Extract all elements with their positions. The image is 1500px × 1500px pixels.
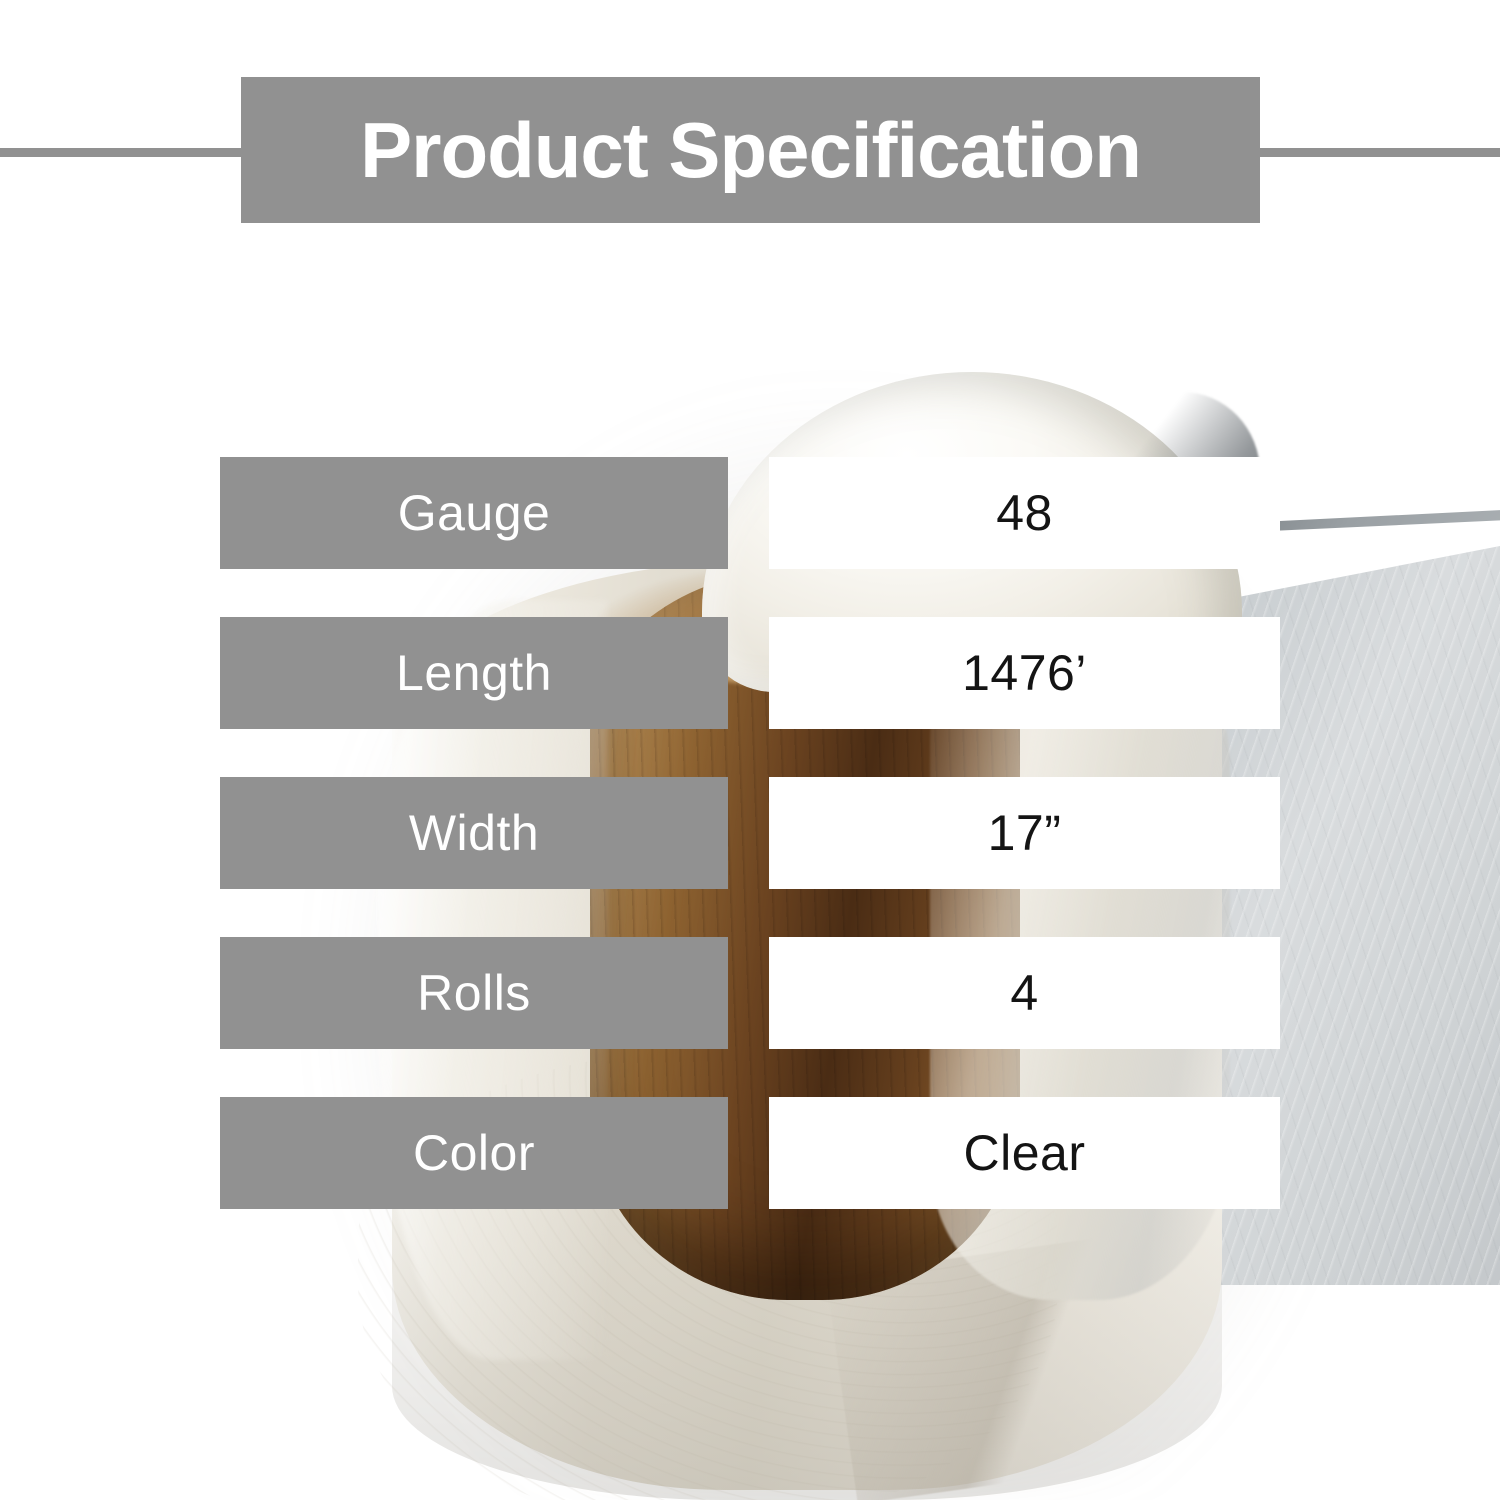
spec-value-rolls: 4 xyxy=(769,937,1280,1049)
spec-value-gauge: 48 xyxy=(769,457,1280,569)
spec-value-text: 48 xyxy=(996,488,1053,538)
page-title: Product Specification xyxy=(360,111,1141,189)
spec-value-text: Clear xyxy=(964,1128,1086,1178)
film-roll-seam xyxy=(826,1226,1215,1500)
spec-label-width: Width xyxy=(220,777,728,889)
table-row: Color Clear xyxy=(0,1097,1500,1209)
spec-value-text: 1476’ xyxy=(962,648,1087,698)
spec-label-text: Width xyxy=(409,808,539,858)
table-row: Rolls 4 xyxy=(0,937,1500,1049)
spec-value-length: 1476’ xyxy=(769,617,1280,729)
spec-label-text: Color xyxy=(413,1128,535,1178)
spec-label-length: Length xyxy=(220,617,728,729)
spec-label-gauge: Gauge xyxy=(220,457,728,569)
spec-label-text: Gauge xyxy=(398,488,551,538)
specification-table: Gauge 48 Length 1476’ Width 17” Rol xyxy=(0,457,1500,1209)
spec-label-text: Length xyxy=(396,648,552,698)
spec-value-width: 17” xyxy=(769,777,1280,889)
spec-label-text: Rolls xyxy=(417,968,531,1018)
spec-value-text: 4 xyxy=(1010,968,1038,1018)
header: Product Specification xyxy=(0,77,1500,223)
table-row: Width 17” xyxy=(0,777,1500,889)
spec-label-rolls: Rolls xyxy=(220,937,728,1049)
header-banner: Product Specification xyxy=(241,77,1260,223)
spec-value-color: Clear xyxy=(769,1097,1280,1209)
spec-label-color: Color xyxy=(220,1097,728,1209)
product-specification-page: Product Specification Gauge 48 Length 14… xyxy=(0,0,1500,1500)
table-row: Length 1476’ xyxy=(0,617,1500,729)
spec-value-text: 17” xyxy=(988,808,1062,858)
table-row: Gauge 48 xyxy=(0,457,1500,569)
